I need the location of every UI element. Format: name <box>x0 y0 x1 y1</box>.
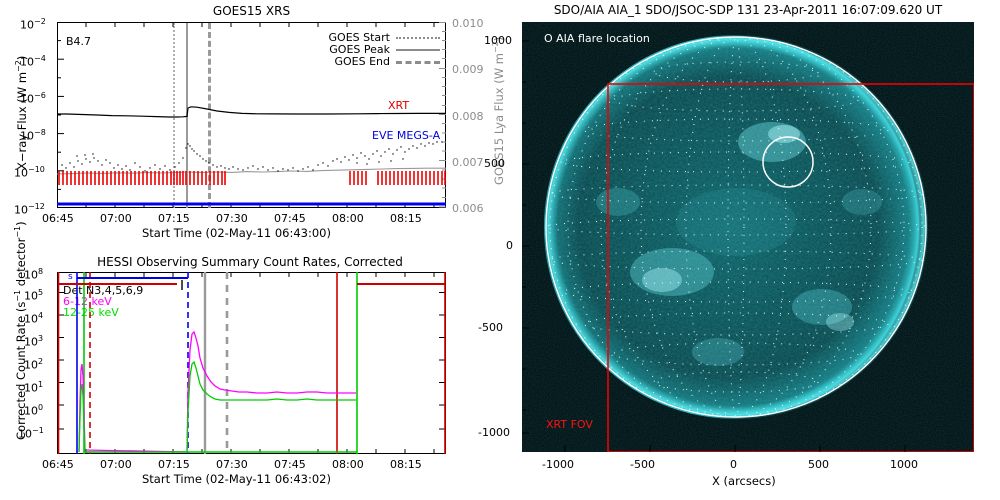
aia-x-axis-title: X (arcsecs) <box>712 474 776 488</box>
hessi-ytick-6: 100 <box>24 403 43 418</box>
aia-xtick-1: -500 <box>630 458 655 471</box>
hessi-xtick-5: 08:00 <box>332 458 364 471</box>
hessi-panel-title: HESSI Observing Summary Count Rates, Cor… <box>50 255 450 269</box>
goes-xtick-6: 08:15 <box>390 212 422 225</box>
hessi-x-axis-title: Start Time (02-May-11 06:43:02) <box>142 472 331 486</box>
goes-x-axis-title: Start Time (02-May-11 06:43:00) <box>142 226 331 240</box>
hessi-xtick-2: 07:15 <box>158 458 190 471</box>
goes-xtick-3: 07:30 <box>216 212 248 225</box>
goes-y2tick-4: 0.006 <box>452 202 484 215</box>
aia-ytick-0: 1000 <box>484 34 512 47</box>
hessi-ytick-2: 104 <box>24 311 43 326</box>
hessi-xtick-6: 08:15 <box>390 458 422 471</box>
figure-canvas: GOES15 XRS X−ray Flux (W m−2) GOES15 Lya… <box>0 0 1000 500</box>
goes-xtick-0: 06:45 <box>42 212 74 225</box>
hessi-xtick-4: 07:45 <box>274 458 306 471</box>
hessi-ytick-1: 105 <box>24 288 43 303</box>
goes-ytick-1: 10−4 <box>20 54 46 69</box>
hessi-data-layer <box>57 272 446 454</box>
hessi-xtick-0: 06:45 <box>42 458 74 471</box>
aia-xtick-4: 1000 <box>890 458 918 471</box>
goes-ytick-3: 10−8 <box>20 128 46 143</box>
goes-y2tick-2: 0.008 <box>452 110 484 123</box>
goes-y2tick-1: 0.009 <box>452 63 484 76</box>
goes-ytick-4: 10−10 <box>14 165 45 180</box>
aia-panel-title: SDO/AIA AIA_1 SDO/JSOC-SDP 131 23-Apr-20… <box>522 3 974 17</box>
aia-xtick-3: 500 <box>808 458 829 471</box>
goes-data-layer <box>57 22 446 208</box>
aia-axis-layer <box>522 22 974 452</box>
goes-y-axis-title: X−ray Flux (W m−2) <box>14 56 29 170</box>
goes-xtick-1: 07:00 <box>100 212 132 225</box>
aia-ytick-1: 500 <box>484 157 505 170</box>
goes-xtick-5: 08:00 <box>332 212 364 225</box>
goes-y2tick-3: 0.007 <box>452 156 484 169</box>
aia-ytick-3: -500 <box>478 321 503 334</box>
hessi-xtick-3: 07:30 <box>216 458 248 471</box>
aia-xtick-0: -1000 <box>542 458 574 471</box>
hessi-ytick-3: 103 <box>24 334 43 349</box>
aia-ytick-2: 0 <box>506 239 513 252</box>
goes-ytick-0: 10−2 <box>20 17 46 32</box>
hessi-ytick-7: 10−1 <box>18 426 44 441</box>
hessi-ytick-4: 102 <box>24 357 43 372</box>
goes-ytick-5: 10−12 <box>14 202 45 217</box>
goes-xtick-2: 07:15 <box>158 212 190 225</box>
goes-y2tick-0: 0.010 <box>452 17 484 30</box>
goes-panel-title: GOES15 XRS <box>57 4 446 18</box>
aia-ytick-4: -1000 <box>478 426 510 439</box>
goes-xtick-4: 07:45 <box>274 212 306 225</box>
aia-xtick-2: 0 <box>730 458 737 471</box>
hessi-ytick-5: 101 <box>24 380 43 395</box>
goes-ytick-2: 10−6 <box>20 91 46 106</box>
hessi-ytick-0: 108 <box>24 267 43 282</box>
hessi-xtick-1: 07:00 <box>100 458 132 471</box>
